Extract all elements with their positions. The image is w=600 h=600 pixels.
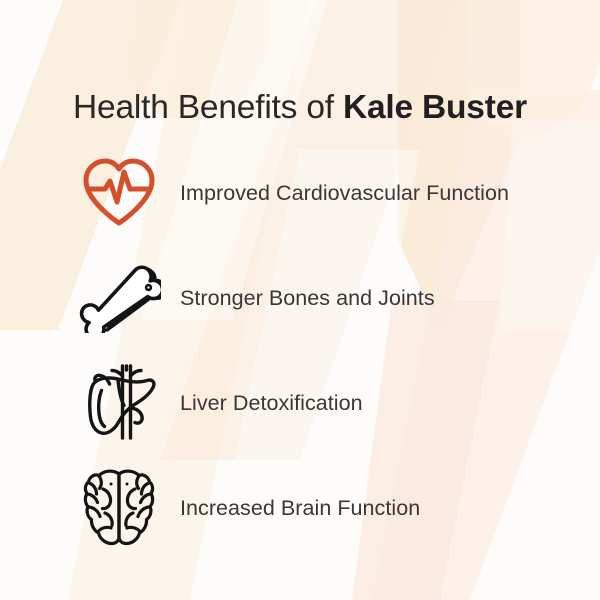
infographic-canvas: Health Benefits of Kale Buster Improved … — [0, 0, 600, 600]
benefit-label-brain: Increased Brain Function — [180, 494, 420, 522]
benefit-item-bones: Stronger Bones and Joints — [0, 245, 600, 350]
page-title-prefix: Health Benefits of — [73, 89, 343, 126]
benefit-label-bones: Stronger Bones and Joints — [180, 284, 435, 312]
product-name: Kale Buster — [343, 89, 527, 126]
brain-icon — [74, 466, 164, 550]
page-title: Health Benefits of Kale Buster — [0, 88, 600, 128]
content-layer: Health Benefits of Kale Buster Improved … — [0, 0, 600, 600]
liver-icon — [74, 361, 164, 445]
benefit-list: Improved Cardiovascular Function Stro — [0, 140, 600, 560]
benefit-item-brain: Increased Brain Function — [0, 455, 600, 560]
benefit-label-liver: Liver Detoxification — [180, 389, 363, 417]
benefit-item-cardiovascular: Improved Cardiovascular Function — [0, 140, 600, 245]
benefit-item-liver: Liver Detoxification — [0, 350, 600, 455]
benefit-label-cardiovascular: Improved Cardiovascular Function — [180, 179, 509, 207]
heart-pulse-icon — [74, 151, 164, 235]
bone-icon — [74, 256, 164, 340]
